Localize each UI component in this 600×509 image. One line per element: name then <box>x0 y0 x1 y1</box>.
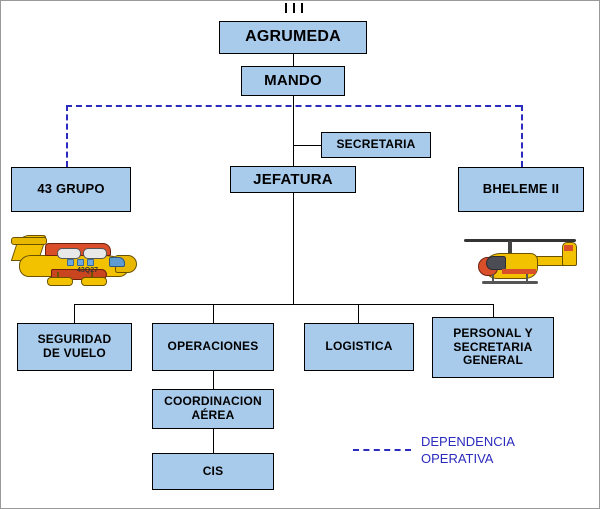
node-coordinacion-aerea[interactable]: COORDINACION AÉREA <box>152 389 274 429</box>
node-seguridad-de-vuelo[interactable]: SEGURIDAD DE VUELO <box>17 323 132 371</box>
connector-agrumeda-mando <box>293 53 294 66</box>
node-personal-y-secretaria-general[interactable]: PERSONAL Y SECRETARIA GENERAL <box>432 317 554 378</box>
node-secretaria[interactable]: SECRETARIA <box>321 132 431 158</box>
connector-jefatura-bus <box>293 192 294 304</box>
plane-registration: 43Q27 <box>77 267 98 274</box>
connector-drop-operaciones <box>213 304 214 323</box>
top-mark-3 <box>301 3 303 13</box>
helicopter-photo <box>458 225 584 295</box>
org-chart-diagram: AGRUMEDA MANDO SECRETARIA JEFATURA 43 GR… <box>0 0 600 509</box>
node-43-grupo[interactable]: 43 GRUPO <box>11 167 131 212</box>
connector-operaciones-coordinacion <box>213 371 214 389</box>
top-mark-1 <box>285 3 287 13</box>
dependency-line-left <box>66 105 68 167</box>
dependency-line-right <box>521 105 523 167</box>
node-bheleme-ii[interactable]: BHELEME II <box>458 167 584 212</box>
legend-label: DEPENDENCIA OPERATIVA <box>421 433 581 467</box>
dependency-line-horizontal <box>66 105 521 107</box>
node-mando[interactable]: MANDO <box>241 66 345 96</box>
top-mark-2 <box>293 3 295 13</box>
legend-dash-sample <box>353 449 411 451</box>
plane-photo: 43Q27 <box>11 225 141 295</box>
connector-secretaria <box>293 145 321 146</box>
connector-coordinacion-cis <box>213 429 214 453</box>
connector-drop-logistica <box>358 304 359 323</box>
connector-drop-seguridad <box>74 304 75 323</box>
node-jefatura[interactable]: JEFATURA <box>230 166 356 193</box>
node-agrumeda[interactable]: AGRUMEDA <box>219 21 367 54</box>
node-logistica[interactable]: LOGISTICA <box>304 323 414 371</box>
node-cis[interactable]: CIS <box>152 453 274 490</box>
connector-bus <box>74 304 494 305</box>
node-operaciones[interactable]: OPERACIONES <box>152 323 274 371</box>
